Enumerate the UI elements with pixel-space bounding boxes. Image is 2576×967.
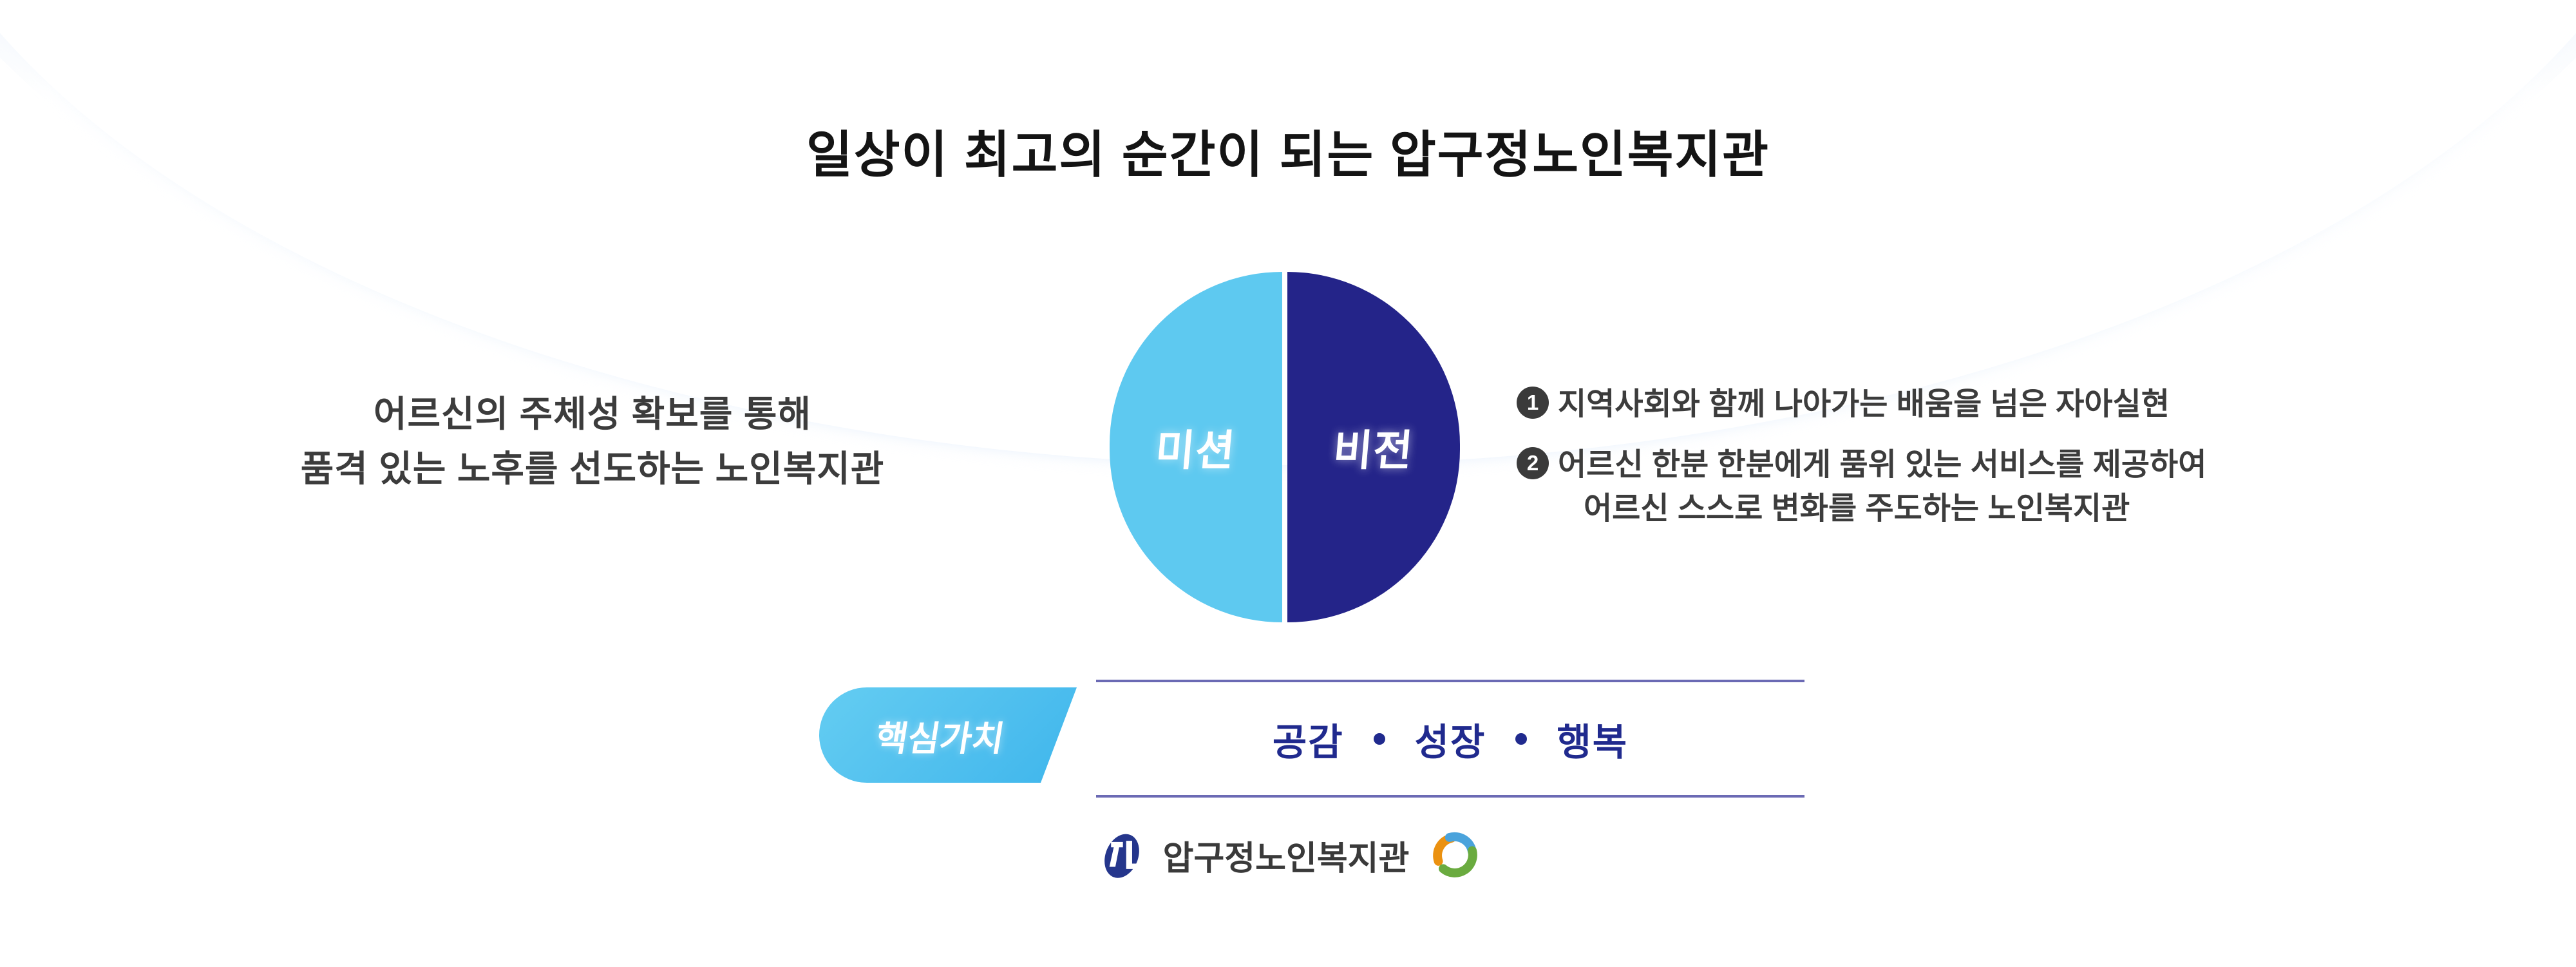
core-values-panel: 공감 성장 행복 (1096, 680, 1804, 798)
poster-canvas: 일상이 최고의 순간이 되는 압구정노인복지관 미션 비전 어르신의 주체성 확… (0, 0, 2576, 967)
mission-line-1: 어르신의 주체성 확보를 통해 (116, 387, 1069, 441)
footer-logo: 압구정노인복지관 (0, 828, 2576, 882)
vision-half: 비전 (1287, 272, 1460, 622)
bullet-number-icon: 1 (1517, 387, 1549, 419)
tri-color-ring-icon (1423, 828, 1481, 881)
core-value-1: 공감 (1243, 712, 1374, 766)
separator-dot-icon (1374, 733, 1385, 745)
separator-dot-icon (1515, 733, 1527, 745)
vision-2-line-1: 어르신 한분 한분에게 품위 있는 서비스를 제공하여 (1558, 443, 2206, 487)
vision-1-line-1: 지역사회와 함께 나아가는 배움을 넘은 자아실현 (1558, 383, 2170, 426)
core-value-3: 행복 (1527, 712, 1658, 766)
core-value-2: 성장 (1385, 712, 1516, 766)
mission-vision-circle: 미션 비전 (1110, 272, 1460, 622)
core-values-badge-label: 핵심가치 (872, 710, 1023, 761)
bullet-number-icon: 2 (1517, 447, 1549, 479)
mission-line-2: 품격 있는 노후를 선도하는 노인복지관 (116, 441, 1069, 496)
page-title: 일상이 최고의 순간이 되는 압구정노인복지관 (0, 115, 2576, 187)
vision-label: 비전 (1331, 416, 1416, 478)
core-values-block: 핵심가치 공감 성장 행복 (819, 680, 1804, 792)
organization-mark-icon (1095, 828, 1149, 882)
vision-item-2: 2 어르신 한분 한분에게 품위 있는 서비스를 제공하여 어르신 스스로 변화… (1517, 443, 2547, 531)
organization-name: 압구정노인복지관 (1163, 831, 1410, 879)
vision-item-1-text: 지역사회와 함께 나아가는 배움을 넘은 자아실현 (1558, 383, 2170, 426)
vision-list: 1 지역사회와 함께 나아가는 배움을 넘은 자아실현 2 어르신 한분 한분에… (1517, 383, 2547, 548)
core-values-list: 공감 성장 행복 (1243, 712, 1658, 766)
mission-label: 미션 (1153, 416, 1238, 478)
mission-statement: 어르신의 주체성 확보를 통해 품격 있는 노후를 선도하는 노인복지관 (116, 387, 1069, 496)
core-values-badge: 핵심가치 (819, 687, 1077, 783)
vision-item-1: 1 지역사회와 함께 나아가는 배움을 넘은 자아실현 (1517, 383, 2547, 426)
vision-2-line-2: 어르신 스스로 변화를 주도하는 노인복지관 (1558, 487, 2206, 531)
mission-half: 미션 (1110, 272, 1282, 622)
vision-item-2-text: 어르신 한분 한분에게 품위 있는 서비스를 제공하여 어르신 스스로 변화를 … (1558, 443, 2206, 531)
